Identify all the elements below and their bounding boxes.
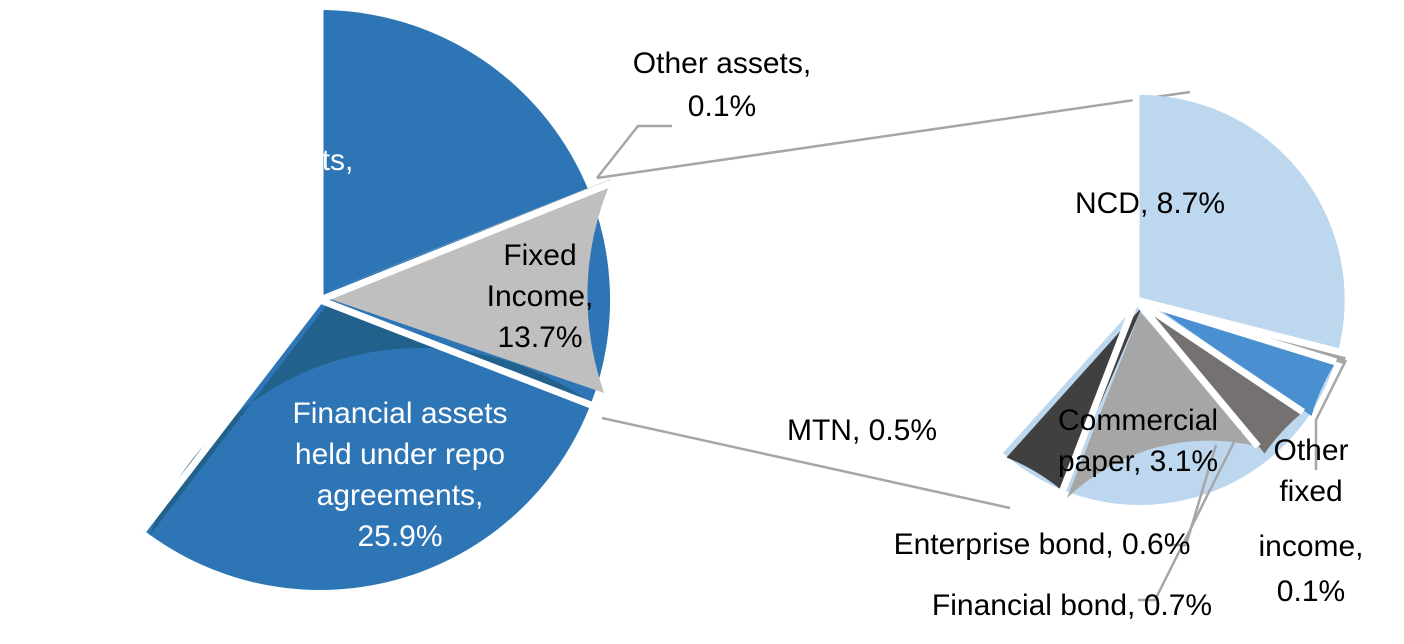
label-ncd: NCD, 8.7% xyxy=(1075,187,1225,220)
label-other-fixed-income-line3: income, xyxy=(1258,530,1363,563)
label-other-fixed-income-line1: Other xyxy=(1273,434,1348,467)
label-other-assets-line1: Other assets, xyxy=(633,47,811,80)
label-repo-line2: held under repo xyxy=(295,438,505,471)
label-enterprise-bond: Enterprise bond, 0.6% xyxy=(894,528,1191,561)
label-other-fixed-income-line4: 0.1% xyxy=(1277,575,1345,608)
chart-canvas: Bank deposits, 60.3% Fixed Income, 13.7%… xyxy=(0,0,1404,644)
label-repo-line1: Financial assets xyxy=(292,397,507,430)
label-repo-line3: agreements, xyxy=(317,479,484,512)
label-other-fixed-income-line2: fixed xyxy=(1279,475,1342,508)
label-mtn: MTN, 0.5% xyxy=(787,414,937,447)
connector-upper xyxy=(597,92,1190,178)
pie-chart-figure: Bank deposits, 60.3% Fixed Income, 13.7%… xyxy=(0,0,1404,644)
label-fixed-income-line2: Income, xyxy=(487,280,594,313)
label-other-assets-line2: 0.1% xyxy=(688,90,756,123)
label-fixed-income-line3: 13.7% xyxy=(497,321,582,354)
label-fixed-income-line1: Fixed xyxy=(503,239,576,272)
label-commercial-paper-line1: Commercial xyxy=(1058,404,1218,437)
label-bank-deposits-line2: 60.3% xyxy=(212,185,297,218)
label-repo-line4: 25.9% xyxy=(357,520,442,553)
leader-other-assets xyxy=(597,126,672,178)
label-commercial-paper-line2: paper, 3.1% xyxy=(1058,445,1218,478)
label-bank-deposits-line1: Bank deposits, xyxy=(157,144,354,177)
label-financial-bond: Financial bond, 0.7% xyxy=(932,589,1212,622)
